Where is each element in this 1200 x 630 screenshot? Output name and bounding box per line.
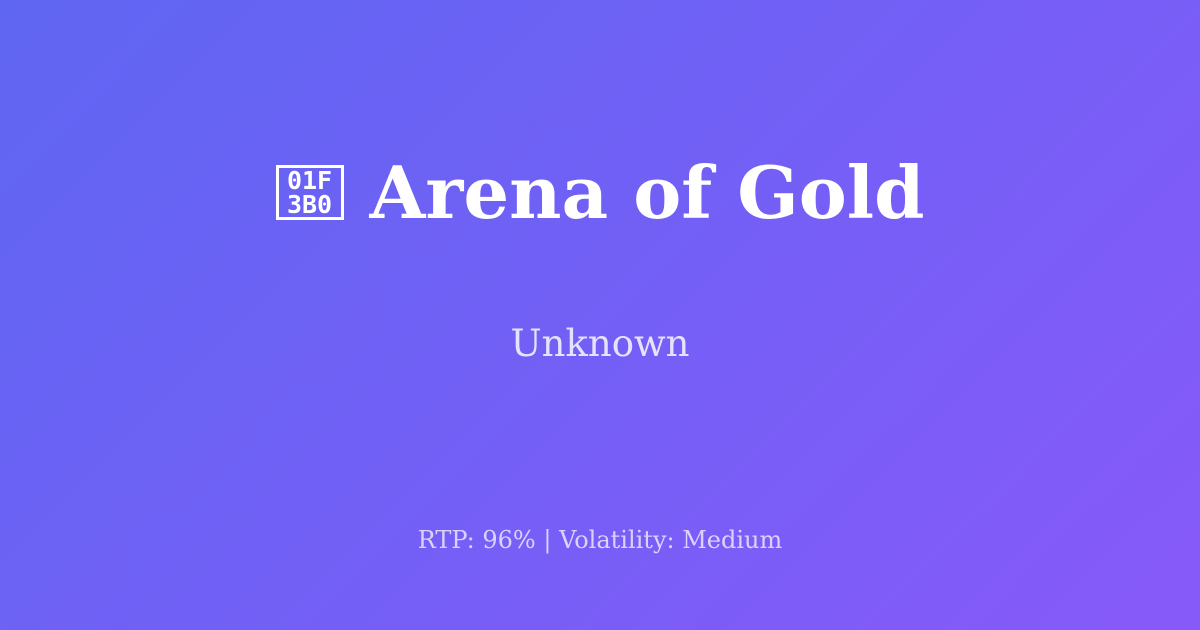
tofu-codepoint-line-2: 3B0 <box>287 193 332 217</box>
slot-machine-icon: 01F 3B0 <box>276 165 344 220</box>
game-info-card: 01F 3B0 Arena of Gold Unknown RTP: 96% |… <box>0 0 1200 630</box>
page-title: Arena of Gold <box>370 157 925 229</box>
game-stats-line: RTP: 96% | Volatility: Medium <box>0 528 1200 552</box>
hero-block: 01F 3B0 Arena of Gold Unknown <box>0 0 1200 470</box>
title-row: 01F 3B0 Arena of Gold <box>276 108 925 276</box>
page-subtitle: Unknown <box>510 325 689 362</box>
tofu-codepoint-line-1: 01F <box>287 169 332 193</box>
